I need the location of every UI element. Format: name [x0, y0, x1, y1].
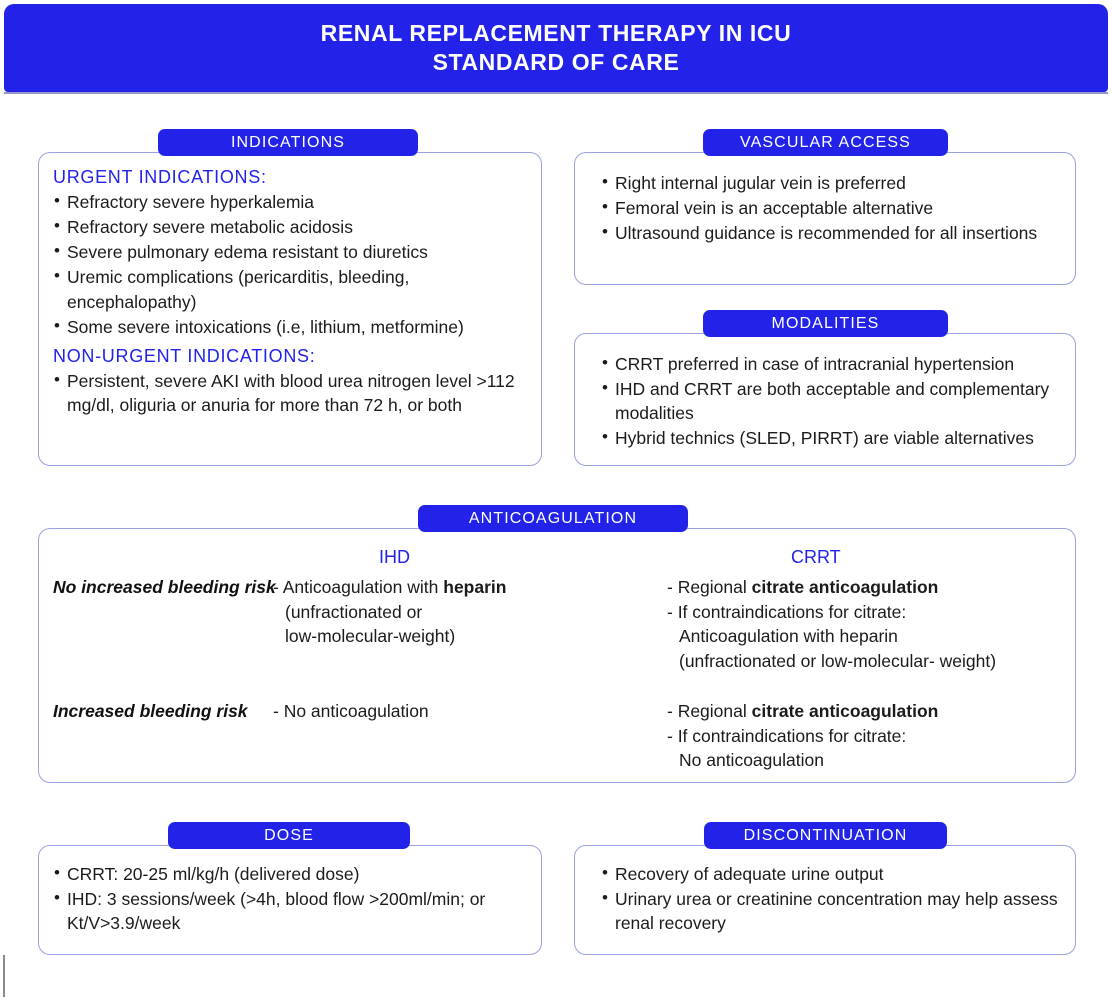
card-dose: CRRT: 20-25 ml/kg/h (delivered dose) IHD…	[38, 845, 542, 955]
list-item: IHD: 3 sessions/week (>4h, blood flow >2…	[53, 887, 531, 935]
vascular-access-list: Right internal jugular vein is preferred…	[601, 171, 1063, 245]
anticoag-cell-row1-ihd: - Anticoagulation with heparin (unfracti…	[273, 575, 506, 649]
card-anticoagulation: IHD CRRT No increased bleeding risk - An…	[38, 528, 1076, 783]
row-label-line2: bleeding risk	[168, 577, 276, 597]
page-title-line1: RENAL REPLACEMENT THERAPY IN ICU	[321, 20, 792, 47]
section-title-dose: DOSE	[168, 822, 410, 849]
card-discontinuation: Recovery of adequate urine output Urinar…	[574, 845, 1076, 955]
card-modalities: CRRT preferred in case of intracranial h…	[574, 333, 1076, 466]
indications-nonurgent-heading: NON-URGENT INDICATIONS:	[53, 346, 531, 367]
cell-line1-plain: - No anticoagulation	[273, 701, 429, 721]
infographic-page: RENAL REPLACEMENT THERAPY IN ICU STANDAR…	[0, 0, 1112, 1000]
indications-nonurgent-list: Persistent, severe AKI with blood urea n…	[53, 369, 531, 417]
indications-urgent-list: Refractory severe hyperkalemia Refractor…	[53, 190, 531, 339]
cell-line1-plain: - Regional	[667, 701, 752, 721]
page-edge-mark	[3, 955, 5, 997]
anticoag-column-header-crrt: CRRT	[791, 547, 841, 568]
cell-line1: - Regional citrate anticoagulation	[667, 699, 938, 724]
modalities-list: CRRT preferred in case of intracranial h…	[601, 352, 1065, 451]
cell-line1: - No anticoagulation	[273, 699, 429, 724]
cell-line1-plain: - Anticoagulation with	[273, 577, 443, 597]
page-header-banner: RENAL REPLACEMENT THERAPY IN ICU STANDAR…	[4, 4, 1108, 92]
indications-content: URGENT INDICATIONS: Refractory severe hy…	[53, 167, 531, 418]
cell-line1-bold: heparin	[443, 577, 506, 597]
cell-line3: No anticoagulation	[667, 748, 938, 773]
list-item: Urinary urea or creatinine concentration…	[601, 887, 1065, 935]
cell-line1: - Regional citrate anticoagulation	[667, 575, 996, 600]
cell-line2: - If contraindications for citrate:	[667, 724, 938, 749]
list-item: CRRT: 20-25 ml/kg/h (delivered dose)	[53, 862, 531, 886]
cell-line1-bold: citrate anticoagulation	[752, 701, 939, 721]
card-vascular-access: Right internal jugular vein is preferred…	[574, 152, 1076, 285]
cell-line1: - Anticoagulation with heparin	[273, 575, 506, 600]
list-item: Ultrasound guidance is recommended for a…	[601, 221, 1063, 245]
cell-line1-plain: - Regional	[667, 577, 752, 597]
header-divider-rule	[4, 92, 1108, 94]
section-title-indications: INDICATIONS	[158, 129, 418, 156]
anticoag-row-label-no-increased-risk: No increased bleeding risk	[53, 575, 276, 599]
card-indications: URGENT INDICATIONS: Refractory severe hy…	[38, 152, 542, 466]
list-item: CRRT preferred in case of intracranial h…	[601, 352, 1065, 376]
list-item: Refractory severe hyperkalemia	[53, 190, 531, 214]
list-item: Right internal jugular vein is preferred	[601, 171, 1063, 195]
list-item: Refractory severe metabolic acidosis	[53, 215, 531, 239]
list-item: IHD and CRRT are both acceptable and com…	[601, 377, 1065, 425]
cell-line1-bold: citrate anticoagulation	[752, 577, 939, 597]
list-item: Uremic complications (pericarditis, blee…	[53, 265, 531, 313]
list-item: Hybrid technics (SLED, PIRRT) are viable…	[601, 426, 1065, 450]
modalities-content: CRRT preferred in case of intracranial h…	[601, 352, 1065, 452]
section-title-modalities: MODALITIES	[703, 310, 948, 337]
anticoag-column-header-ihd: IHD	[379, 547, 410, 568]
list-item: Recovery of adequate urine output	[601, 862, 1065, 886]
vascular-access-content: Right internal jugular vein is preferred…	[601, 171, 1063, 246]
dose-list: CRRT: 20-25 ml/kg/h (delivered dose) IHD…	[53, 862, 531, 935]
list-item: Femoral vein is an acceptable alternativ…	[601, 196, 1063, 220]
row-label-line1: Increased	[53, 701, 135, 721]
anticoag-cell-row2-crrt: - Regional citrate anticoagulation - If …	[667, 699, 938, 773]
section-title-discontinuation: DISCONTINUATION	[704, 822, 947, 849]
section-title-anticoagulation: ANTICOAGULATION	[418, 505, 688, 532]
list-item: Some severe intoxications (i.e, lithium,…	[53, 315, 531, 339]
anticoag-cell-row1-crrt: - Regional citrate anticoagulation - If …	[667, 575, 996, 673]
cell-line3: low-molecular-weight)	[273, 624, 506, 649]
list-item: Persistent, severe AKI with blood urea n…	[53, 369, 531, 417]
anticoag-row-label-increased-risk: Increased bleeding risk	[53, 699, 248, 723]
row-label-line1: No increased	[53, 577, 163, 597]
dose-content: CRRT: 20-25 ml/kg/h (delivered dose) IHD…	[53, 862, 531, 936]
anticoag-cell-row2-ihd: - No anticoagulation	[273, 699, 429, 724]
cell-line4: (unfractionated or low-molecular- weight…	[667, 649, 996, 674]
cell-line2: (unfractionated or	[273, 600, 506, 625]
list-item: Severe pulmonary edema resistant to diur…	[53, 240, 531, 264]
row-label-line2: bleeding risk	[140, 701, 248, 721]
page-title-line2: STANDARD OF CARE	[433, 49, 680, 76]
indications-urgent-heading: URGENT INDICATIONS:	[53, 167, 531, 188]
cell-line3: Anticoagulation with heparin	[667, 624, 996, 649]
section-title-vascular-access: VASCULAR ACCESS	[703, 129, 948, 156]
discontinuation-content: Recovery of adequate urine output Urinar…	[601, 862, 1065, 936]
discontinuation-list: Recovery of adequate urine output Urinar…	[601, 862, 1065, 935]
cell-line2: - If contraindications for citrate:	[667, 600, 996, 625]
